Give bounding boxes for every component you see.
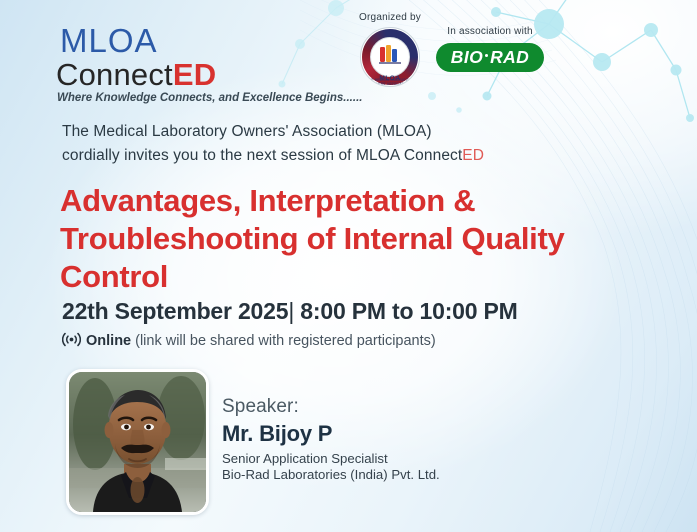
event-mode: Online (86, 333, 131, 349)
speaker-info: Speaker: Mr. Bijoy P Senior Application … (222, 396, 440, 482)
invitation-text: The Medical Laboratory Owners' Associati… (62, 120, 484, 168)
speaker-role: Senior Application Specialist (222, 452, 440, 467)
event-mode-line: Online (link will be shared with registe… (62, 332, 436, 351)
mloa-seal-logo: MLOA THE MEDICAL LABORATORY OWNERS' ASSO… (360, 27, 420, 87)
biorad-logo: BIORAD (436, 43, 544, 72)
seal-emblem-icon (377, 44, 403, 66)
biorad-word-bio: BIO (451, 47, 483, 68)
seal-sub-text: THE MEDICAL LABORATORY OWNERS' ASSOCIATI… (361, 78, 419, 86)
invitation-line-2-accent: ED (462, 147, 484, 164)
speaker-label: Speaker: (222, 396, 440, 417)
in-association-with-label: In association with (428, 26, 552, 37)
speaker-name: Mr. Bijoy P (222, 422, 440, 447)
event-mode-note: (link will be shared with registered par… (135, 333, 436, 349)
event-time: 8:00 PM to 10:00 PM (300, 298, 517, 324)
event-poster: MLOA ConnectED Where Knowledge Connects,… (0, 0, 697, 532)
event-date: 22th September 2025 (62, 298, 288, 324)
invitation-line-2: cordially invites you to the next sessio… (62, 144, 484, 168)
datetime-separator: | (288, 298, 294, 324)
invitation-line-1: The Medical Laboratory Owners' Associati… (62, 120, 484, 144)
speaker-company: Bio-Rad Laboratories (India) Pvt. Ltd. (222, 468, 440, 483)
event-title: Advantages, Interpretation & Troubleshoo… (60, 182, 620, 295)
speaker-photo (66, 369, 209, 515)
brand-tagline: Where Knowledge Connects, and Excellence… (57, 93, 362, 105)
brand-ed-part: ED (173, 57, 216, 92)
event-datetime: 22th September 2025| 8:00 PM to 10:00 PM (62, 298, 518, 325)
poster-header: MLOA ConnectED Where Knowledge Connects,… (0, 0, 697, 112)
organized-by-label: Organized by (345, 12, 435, 23)
organizer-block: Organized by MLOA THE MEDICAL LABORATORY… (345, 12, 435, 87)
invitation-line-2-prefix: cordially invites you to the next sessio… (62, 147, 462, 164)
brand-mloa-text: MLOA (60, 24, 362, 57)
broadcast-icon (62, 332, 81, 351)
brand-connected-text: ConnectED (56, 59, 362, 90)
biorad-separator-dot (485, 54, 488, 57)
brand-connect-part: Connect (56, 57, 173, 92)
mloa-connected-logo: MLOA ConnectED Where Knowledge Connects,… (60, 24, 362, 105)
biorad-word-rad: RAD (490, 47, 529, 68)
association-block: In association with BIORAD (428, 26, 552, 72)
